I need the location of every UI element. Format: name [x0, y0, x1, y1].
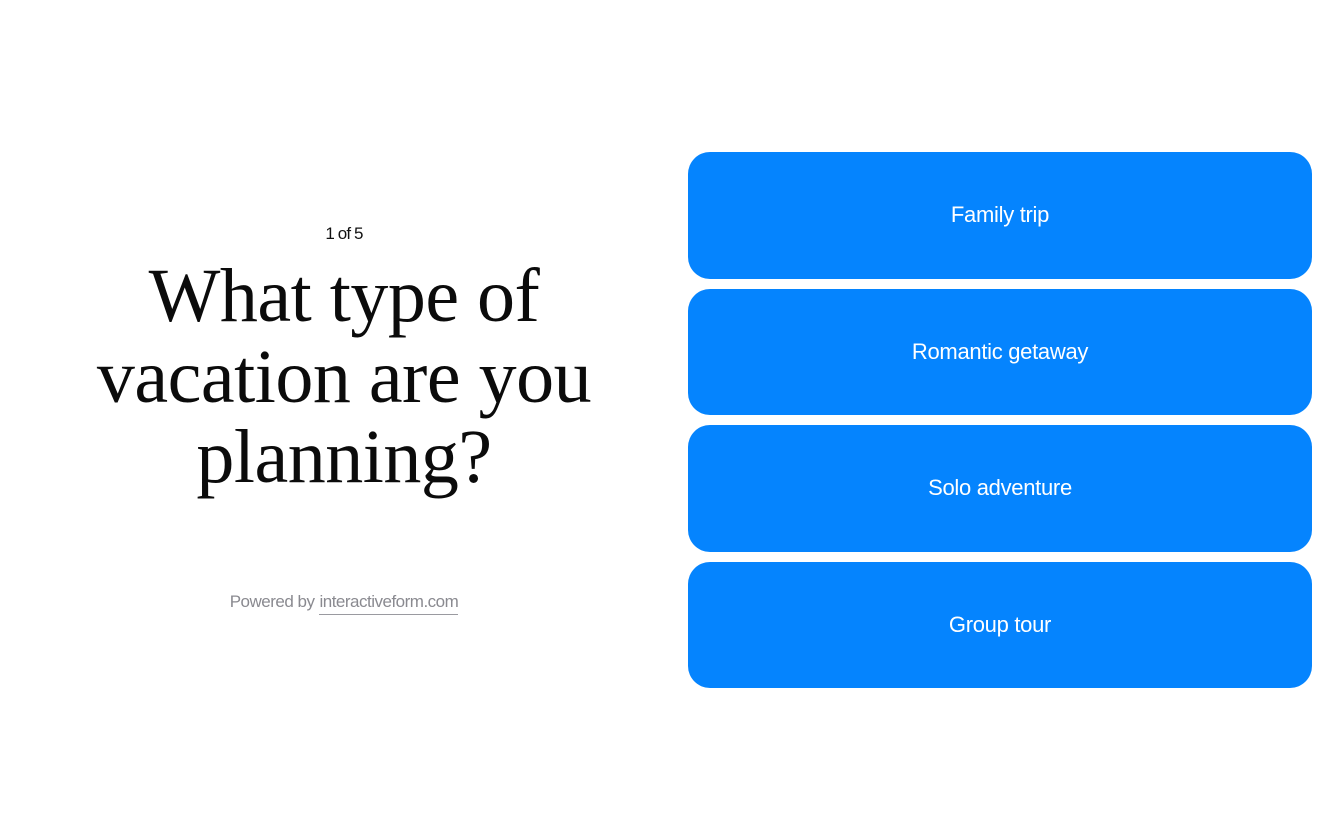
- option-button-group-tour[interactable]: Group tour: [688, 562, 1312, 689]
- powered-by-link[interactable]: interactiveform.com: [319, 592, 458, 615]
- page-title: What type of vacation are you planning?: [94, 256, 594, 498]
- options-list: Family trip Romantic getaway Solo advent…: [688, 152, 1312, 688]
- question-panel-inner: 1 of 5 What type of vacation are you pla…: [60, 225, 628, 615]
- option-button-romantic-getaway[interactable]: Romantic getaway: [688, 289, 1312, 416]
- quiz-screen: 1 of 5 What type of vacation are you pla…: [0, 0, 1344, 840]
- option-button-family-trip[interactable]: Family trip: [688, 152, 1312, 279]
- step-counter: 1 of 5: [325, 225, 362, 242]
- powered-by-label: Powered by: [230, 592, 315, 612]
- powered-by-footer: Powered by interactiveform.com: [230, 592, 459, 615]
- option-button-solo-adventure[interactable]: Solo adventure: [688, 425, 1312, 552]
- question-panel: 1 of 5 What type of vacation are you pla…: [0, 0, 688, 840]
